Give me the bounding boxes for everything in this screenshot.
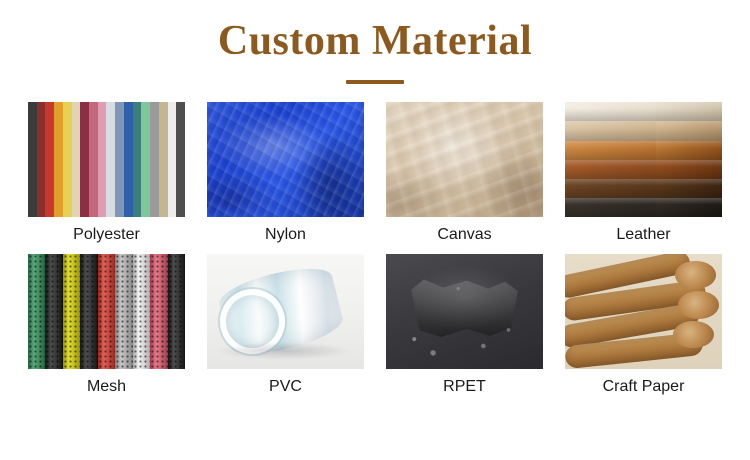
material-card-mesh[interactable]: Mesh [28,254,185,402]
material-card-rpet[interactable]: RPET [386,254,543,402]
nylon-blue-fabric-icon [207,102,364,217]
material-card-polyester[interactable]: Polyester [28,102,185,250]
mesh-fabric-rolls-icon [28,254,185,369]
polyester-swatch-stack-icon [28,102,185,217]
material-label: RPET [443,369,486,402]
material-grid: Polyester Nylon Canvas Leather [0,102,750,402]
material-card-canvas[interactable]: Canvas [386,102,543,250]
pvc-transparent-roll-icon [207,254,364,369]
material-card-craft-paper[interactable]: Craft Paper [565,254,722,402]
material-label: Leather [616,217,670,250]
material-label: Nylon [265,217,306,250]
rpet-dark-fabric-icon [386,254,543,369]
title-divider [346,80,404,84]
page-title: Custom Material [0,0,750,64]
canvas-beige-cloth-icon [386,102,543,217]
craft-paper-rolls-icon [565,254,722,369]
material-label: Polyester [73,217,140,250]
material-label: Canvas [437,217,491,250]
material-card-pvc[interactable]: PVC [207,254,364,402]
material-label: Mesh [87,369,126,402]
material-card-nylon[interactable]: Nylon [207,102,364,250]
material-label: Craft Paper [603,369,685,402]
material-card-leather[interactable]: Leather [565,102,722,250]
leather-rolls-icon [565,102,722,217]
material-label: PVC [269,369,302,402]
custom-material-banner: Custom Material [0,0,750,460]
